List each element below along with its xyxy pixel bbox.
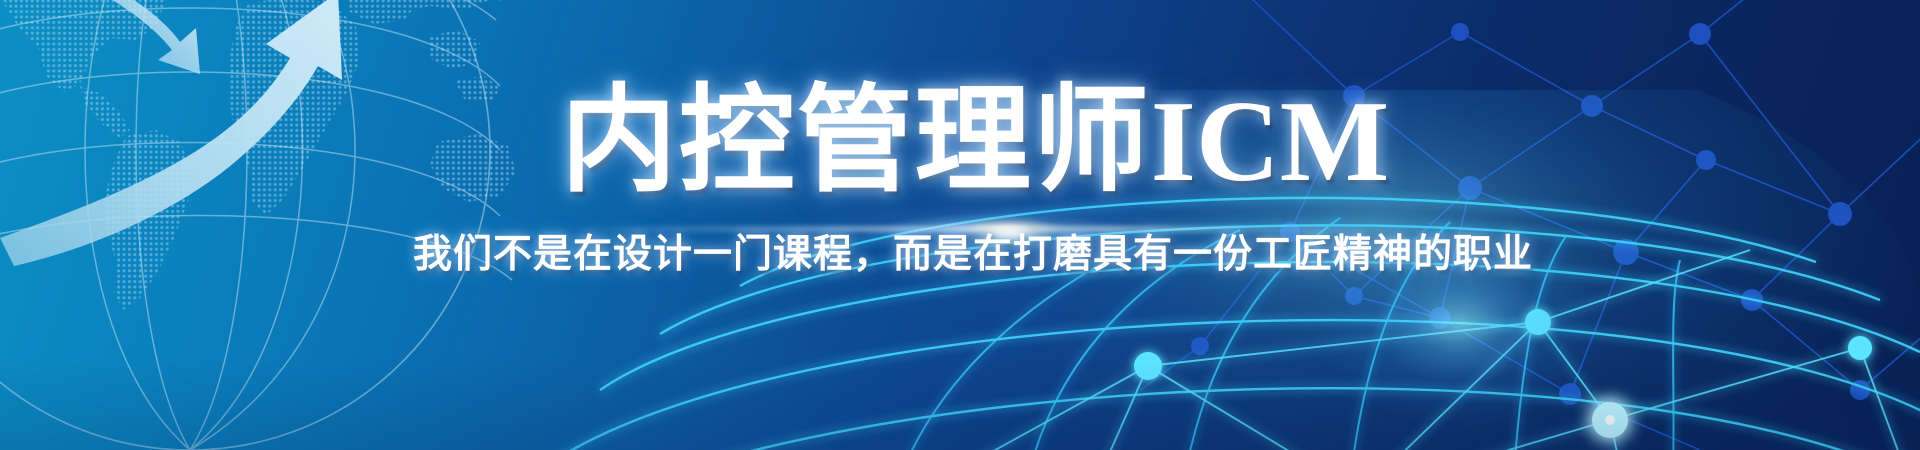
banner-text-block: 内控管理师ICM 我们不是在设计一门课程，而是在打磨具有一份工匠精神的职业 [0, 0, 1920, 450]
hero-banner: 内控管理师ICM 我们不是在设计一门课程，而是在打磨具有一份工匠精神的职业 [0, 0, 1920, 450]
page-title-cn: 内控管理师 [561, 78, 1151, 206]
page-subtitle: 我们不是在设计一门课程，而是在打磨具有一份工匠精神的职业 [413, 234, 1533, 277]
page-title: 内控管理师ICM [561, 84, 1389, 200]
page-title-latin: ICM [1151, 78, 1389, 206]
